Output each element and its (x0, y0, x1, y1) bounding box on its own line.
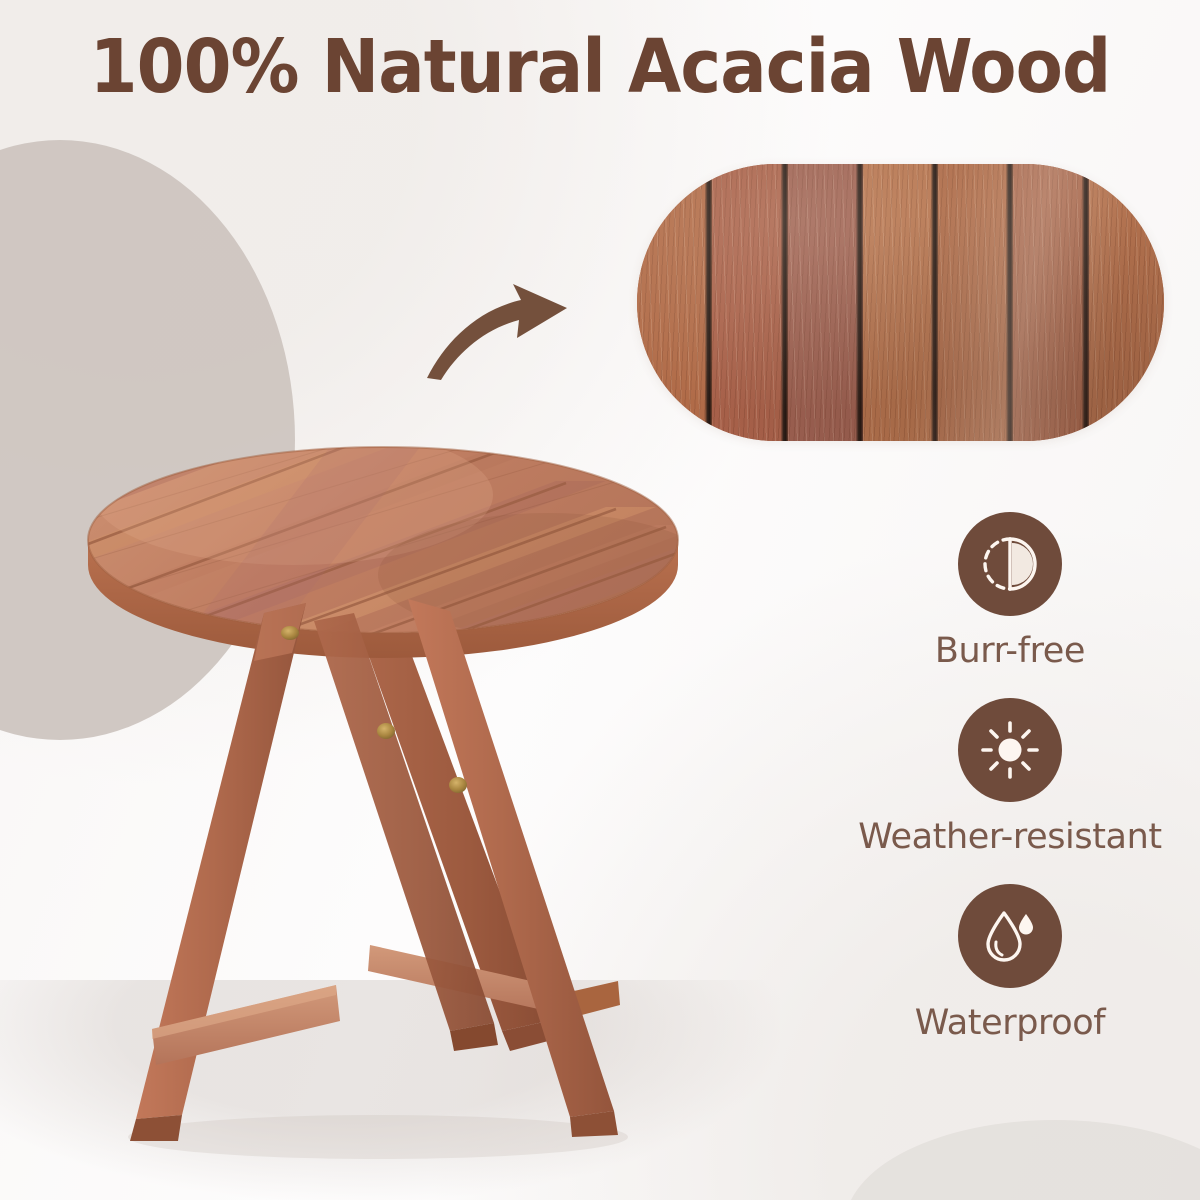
feature-item-waterproof: Waterproof (830, 884, 1190, 1044)
wood-slat (938, 164, 1013, 441)
half-moon-smooth-edge-icon (979, 533, 1041, 595)
sun-icon (980, 720, 1040, 780)
wood-slat (1089, 164, 1164, 441)
weather-resistant-badge (958, 698, 1062, 802)
wood-closeup-inset (637, 164, 1164, 441)
wood-slat-group (637, 164, 1164, 441)
wood-slat (863, 164, 938, 441)
water-drop-icon (979, 905, 1041, 967)
curved-arrow-icon (425, 272, 575, 382)
feature-label: Burr-free (830, 630, 1190, 672)
waterproof-badge (958, 884, 1062, 988)
decorative-circle-bottom-right (845, 1120, 1200, 1200)
wood-slat (637, 164, 712, 441)
screw (449, 777, 467, 793)
wood-slat (712, 164, 787, 441)
screw (281, 626, 299, 640)
feature-item-weather-resistant: Weather-resistant (830, 698, 1190, 858)
wood-slat (788, 164, 863, 441)
page-title: 100% Natural Acacia Wood (42, 28, 1158, 106)
wood-slat (1013, 164, 1088, 441)
feature-label: Waterproof (830, 1002, 1190, 1044)
product-image-folding-table (78, 425, 718, 1165)
feature-label: Weather-resistant (830, 816, 1190, 858)
feature-item-burr-free: Burr-free (830, 512, 1190, 672)
burr-free-badge (958, 512, 1062, 616)
infographic-canvas: 100% Natural Acacia Wood (0, 0, 1200, 1200)
tabletop (78, 425, 718, 685)
screw (377, 723, 395, 739)
feature-list: Burr-free Weat (830, 512, 1190, 1070)
